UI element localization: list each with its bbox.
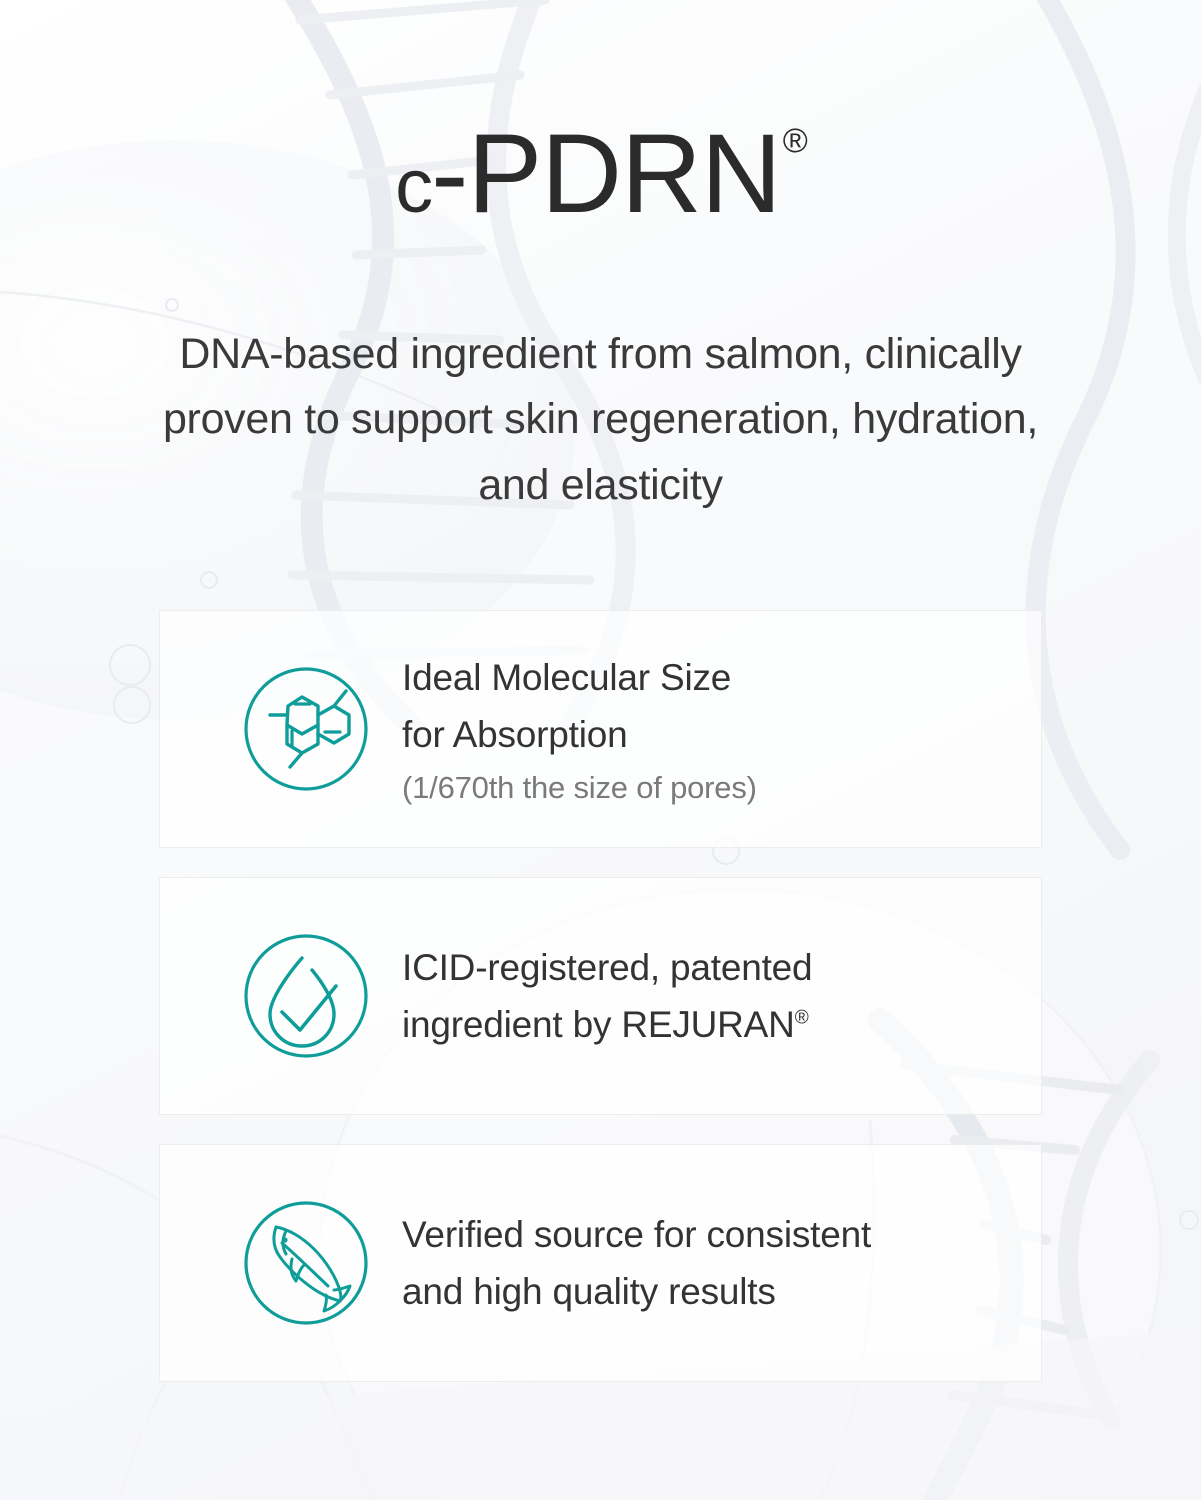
fish-icon [228,1187,384,1339]
feature-card-molecular-size: Ideal Molecular Size for Absorption (1/6… [159,610,1042,848]
feature-card-verified-source-text: Verified source for consistent and high … [402,1206,1041,1321]
page-subtitle: DNA-based ingredient from salmon, clinic… [151,322,1051,518]
molecule-icon [228,653,384,805]
feature-card-verified-source: Verified source for consistent and high … [159,1144,1042,1382]
feature-card-title-line-1: Verified source for consistent [402,1206,1001,1263]
feature-card-molecular-size-text: Ideal Molecular Size for Absorption (1/6… [402,649,1041,810]
feature-card-icid-registered-text: ICID-registered, patented ingredient by … [402,939,1041,1054]
feature-card-title-line-2: for Absorption [402,706,1001,763]
feature-card-title-line-2: ingredient by REJURAN® [402,996,1001,1053]
feature-card-subtext: (1/670th the size of pores) [402,767,1001,809]
feature-card-title-line-1: ICID-registered, patented [402,939,1001,996]
page-title-wrapper: c-PDRN® [0,118,1201,230]
feature-card-list: Ideal Molecular Size for Absorption (1/6… [159,610,1042,1382]
page-title: c-PDRN® [395,118,806,230]
registered-trademark-icon: ® [783,122,808,160]
page-title-main: -PDRN [431,111,781,236]
page-title-lead: c [395,144,431,229]
product-ingredient-infographic: c-PDRN® DNA-based ingredient from salmon… [0,0,1201,1500]
registered-trademark-icon: ® [795,1008,809,1029]
feature-card-icid-registered: ICID-registered, patented ingredient by … [159,877,1042,1115]
feature-card-title-line-1: Ideal Molecular Size [402,649,1001,706]
content-root: c-PDRN® DNA-based ingredient from salmon… [0,0,1201,1500]
feature-card-title-line-2-text: ingredient by REJURAN [402,1004,795,1045]
feature-card-title-line-2: and high quality results [402,1263,1001,1320]
droplet-check-icon [228,920,384,1072]
